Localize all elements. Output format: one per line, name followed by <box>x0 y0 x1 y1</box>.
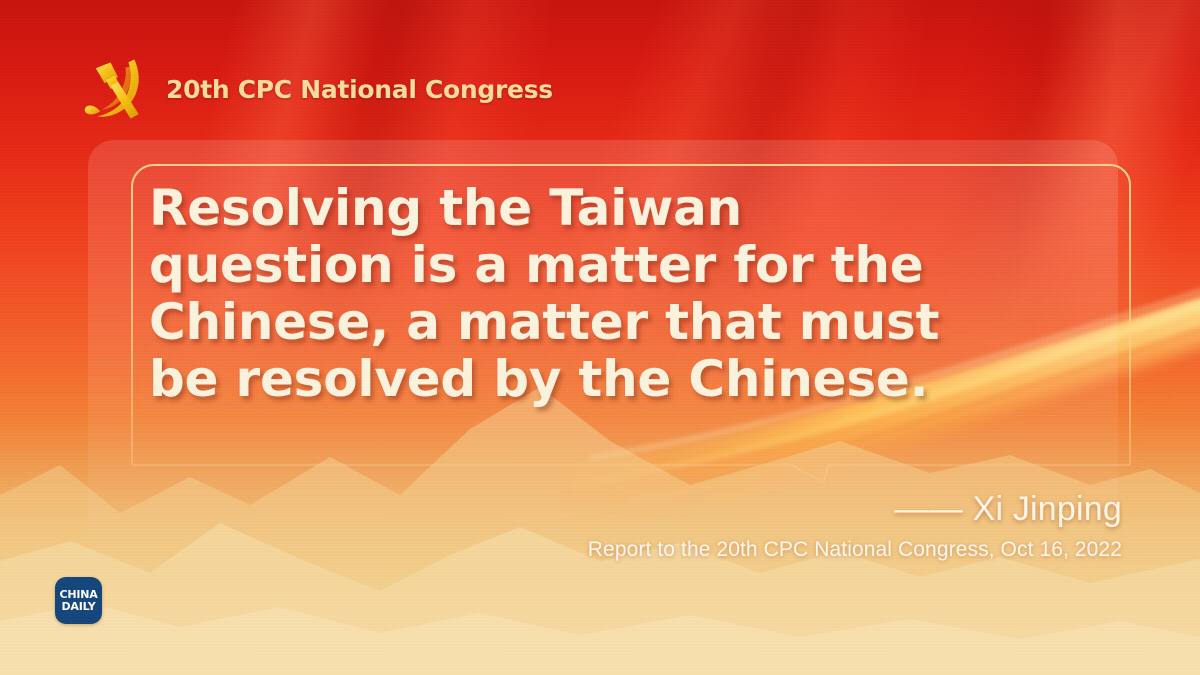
attribution-author: —— Xi Jinping <box>588 490 1122 529</box>
congress-header: 20th CPC National Congress <box>78 52 553 126</box>
quote-line-3: Chinese, a matter that must <box>149 294 1109 351</box>
attribution-source: Report to the 20th CPC National Congress… <box>588 538 1122 562</box>
poster-canvas: 20th CPC National Congress Resolving the… <box>0 0 1200 675</box>
quote-text: Resolving the Taiwan question is a matte… <box>149 180 1109 408</box>
congress-title: 20th CPC National Congress <box>166 75 553 104</box>
china-daily-logo: CHINA DAILY <box>55 577 102 624</box>
quote-line-1: Resolving the Taiwan <box>149 180 1109 237</box>
attribution-block: —— Xi Jinping Report to the 20th CPC Nat… <box>588 490 1122 562</box>
hammer-and-sickle-icon <box>78 52 152 126</box>
quote-line-2: question is a matter for the <box>149 237 1109 294</box>
logo-line-china: CHINA <box>59 589 97 600</box>
logo-line-daily: DAILY <box>62 601 96 612</box>
quote-line-4: be resolved by the Chinese. <box>149 351 1109 408</box>
